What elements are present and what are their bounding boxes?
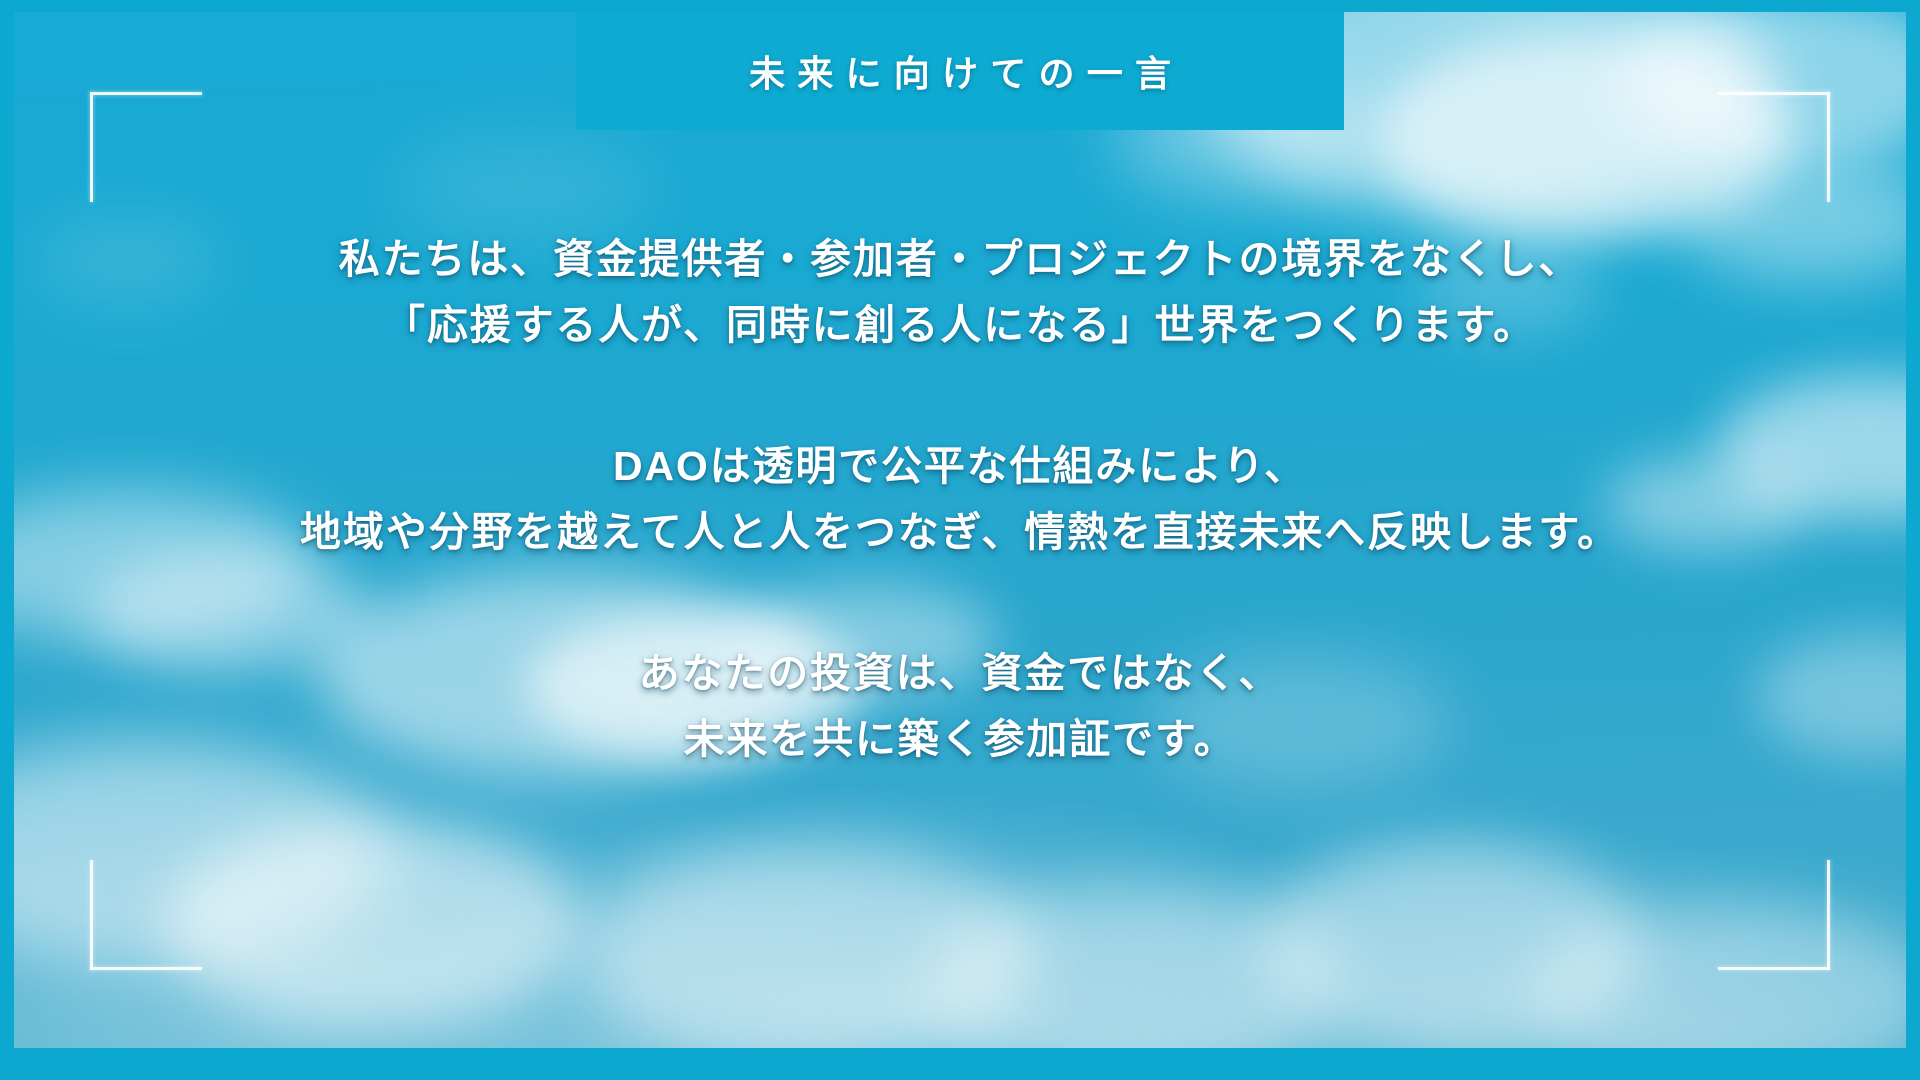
paragraph-3: あなたの投資は、資金ではなく、 未来を共に築く参加証です。 [14,640,1906,773]
paragraph-line: 「応援する人が、同時に創る人になる」世界をつくります。 [14,292,1906,358]
sky-background: 未来に向けての一言 私たちは、資金提供者・参加者・プロジェクトの境界をなくし、 … [14,12,1906,1048]
paragraph-line: 地域や分野を越えて人と人をつなぎ、情熱を直接未来へ反映します。 [14,499,1906,565]
paragraph-line: 私たちは、資金提供者・参加者・プロジェクトの境界をなくし、 [14,226,1906,292]
corner-bracket-bottom-right [1718,860,1830,970]
paragraph-line: あなたの投資は、資金ではなく、 [14,640,1906,706]
cloud-shape [165,820,581,1027]
cloud-shape [1263,841,1641,1048]
body-copy: 私たちは、資金提供者・参加者・プロジェクトの境界をなくし、 「応援する人が、同時… [14,226,1906,772]
paragraph-2: DAOは透明で公平な仕組みにより、 地域や分野を越えて人と人をつなぎ、情熱を直接… [14,433,1906,566]
bracket-horizontal-rule [1718,967,1830,970]
bracket-vertical-rule [1827,860,1830,970]
bracket-horizontal-rule [1718,92,1830,95]
cloud-shape [1528,903,1906,1048]
cloud-shape [922,882,1338,1048]
cloud-shape [392,136,657,240]
paragraph-line: DAOは透明で公平な仕組みにより、 [14,433,1906,499]
slide-frame: 未来に向けての一言 私たちは、資金提供者・参加者・プロジェクトの境界をなくし、 … [0,0,1920,1080]
paragraph-1: 私たちは、資金提供者・参加者・プロジェクトの境界をなくし、 「応援する人が、同時… [14,226,1906,359]
bracket-vertical-rule [1827,92,1830,202]
header-badge: 未来に向けての一言 [576,12,1344,130]
corner-bracket-top-right [1718,92,1830,202]
bracket-vertical-rule [90,860,93,970]
bracket-horizontal-rule [90,92,202,95]
corner-bracket-bottom-left [90,860,202,970]
paragraph-line: 未来を共に築く参加証です。 [14,706,1906,772]
cloud-shape [582,841,1036,1048]
corner-bracket-top-left [90,92,202,202]
bracket-vertical-rule [90,92,93,202]
page-title: 未来に向けての一言 [737,45,1183,97]
bracket-horizontal-rule [90,967,202,970]
